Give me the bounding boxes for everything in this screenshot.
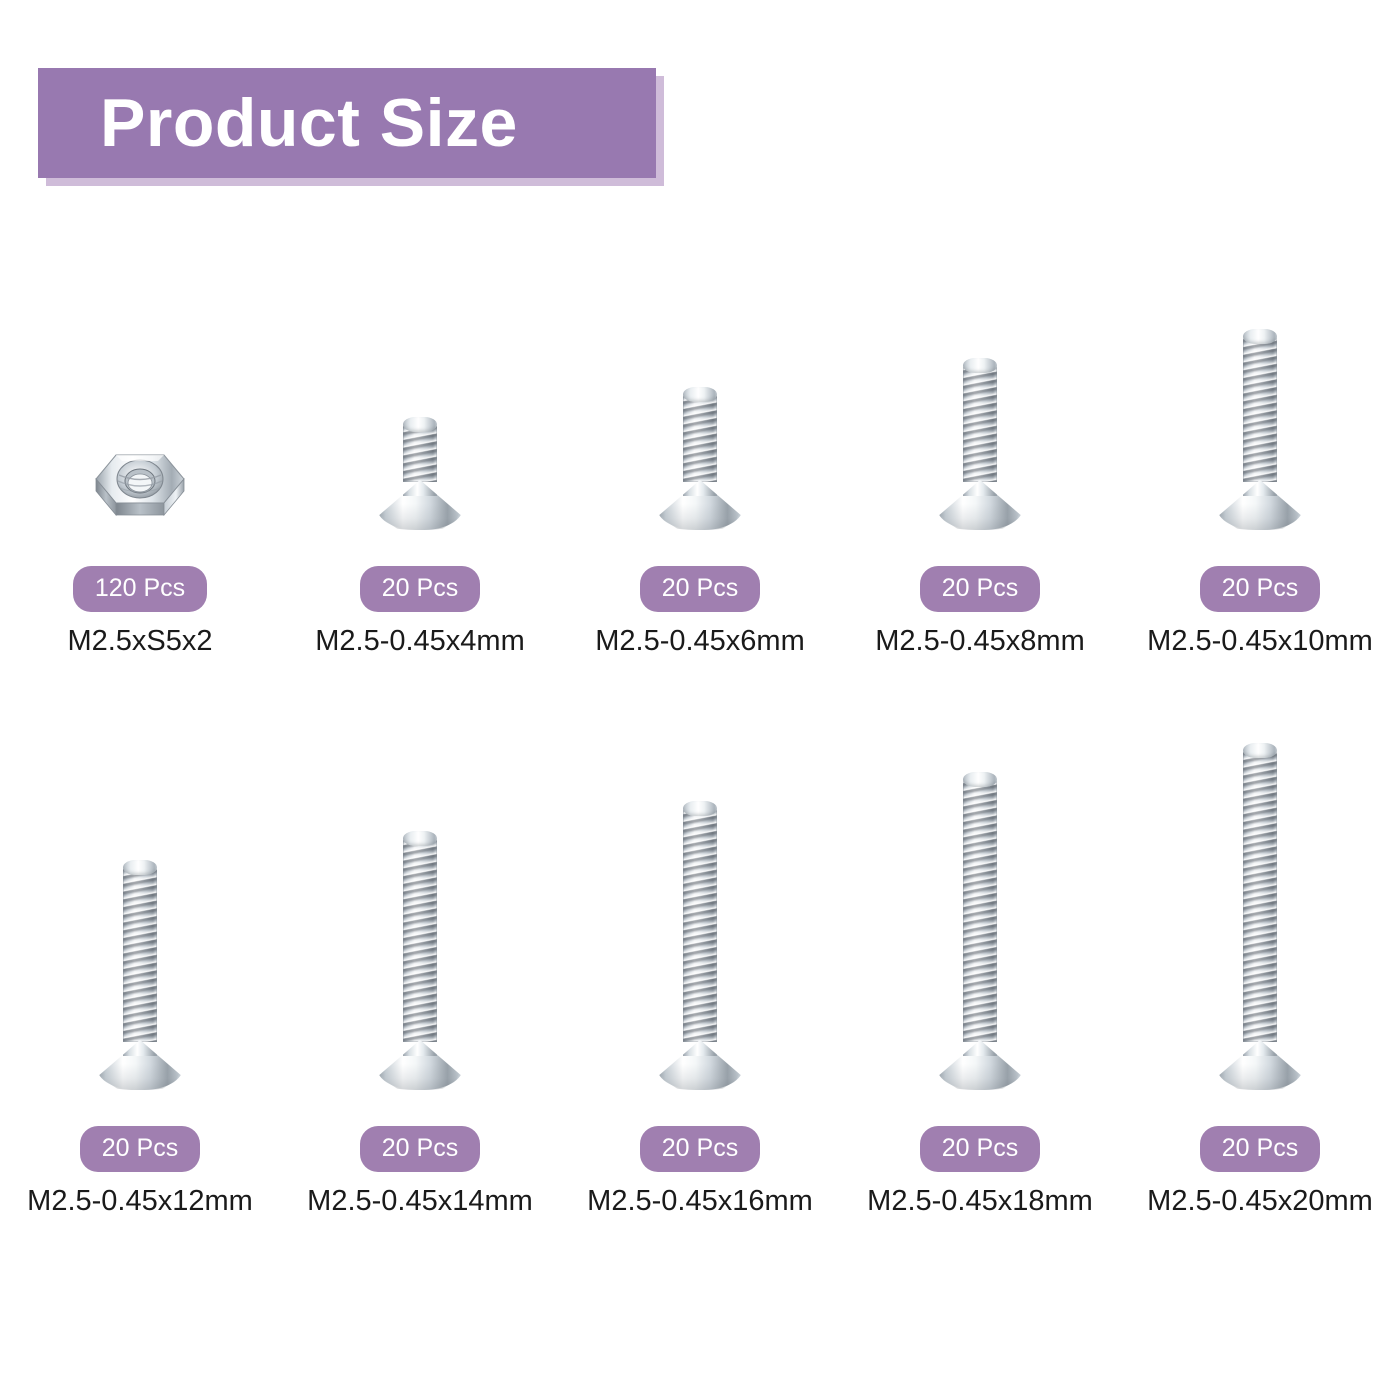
product-spec-label: M2.5xS5x2: [67, 626, 212, 656]
product-item[interactable]: 20 PcsM2.5-0.45x6mm: [560, 300, 840, 656]
screw-tip: [403, 417, 437, 432]
screw-tip: [963, 772, 997, 787]
quantity-badge: 20 Pcs: [1200, 566, 1320, 612]
screw-tip: [683, 801, 717, 816]
screw-threaded-shaft: [963, 779, 997, 1042]
screw-countersunk-head: [937, 480, 1023, 530]
product-item[interactable]: 20 PcsM2.5-0.45x12mm: [0, 700, 280, 1216]
screw-tip: [403, 831, 437, 846]
product-spec-label: M2.5-0.45x12mm: [27, 1186, 253, 1216]
screw-threaded-shaft: [963, 365, 997, 482]
quantity-badge: 120 Pcs: [73, 566, 207, 612]
product-item[interactable]: 20 PcsM2.5-0.45x20mm: [1120, 700, 1400, 1216]
product-image: [280, 700, 560, 1090]
product-spec-label: M2.5-0.45x20mm: [1147, 1186, 1373, 1216]
screw-threaded-shaft: [683, 394, 717, 482]
quantity-badge: 20 Pcs: [1200, 1126, 1320, 1172]
product-spec-label: M2.5-0.45x10mm: [1147, 626, 1373, 656]
flat-head-screw-icon: [97, 867, 183, 1090]
product-image: [280, 300, 560, 530]
flat-head-screw-icon: [1217, 750, 1303, 1090]
screw-tip: [1243, 329, 1277, 344]
product-item[interactable]: 20 PcsM2.5-0.45x8mm: [840, 300, 1120, 656]
product-image: [1120, 300, 1400, 530]
product-image: [560, 700, 840, 1090]
flat-head-screw-icon: [657, 808, 743, 1090]
screw-threaded-shaft: [123, 867, 157, 1042]
product-image: [0, 700, 280, 1090]
product-row-1: 120 PcsM2.5xS5x220 PcsM2.5-0.45x4mm20 Pc…: [0, 300, 1400, 656]
product-image: [840, 300, 1120, 530]
product-item[interactable]: 20 PcsM2.5-0.45x4mm: [280, 300, 560, 656]
quantity-badge: 20 Pcs: [640, 566, 760, 612]
screw-countersunk-head: [1217, 480, 1303, 530]
screw-threaded-shaft: [1243, 336, 1277, 482]
quantity-badge: 20 Pcs: [360, 566, 480, 612]
flat-head-screw-icon: [377, 838, 463, 1090]
product-item[interactable]: 20 PcsM2.5-0.45x18mm: [840, 700, 1120, 1216]
product-image: [1120, 700, 1400, 1090]
screw-countersunk-head: [97, 1040, 183, 1090]
screw-threaded-shaft: [403, 424, 437, 482]
screw-countersunk-head: [1217, 1040, 1303, 1090]
screw-tip: [683, 387, 717, 402]
screw-threaded-shaft: [683, 808, 717, 1042]
screw-tip: [963, 358, 997, 373]
quantity-badge: 20 Pcs: [920, 566, 1040, 612]
flat-head-screw-icon: [937, 365, 1023, 530]
product-image: [560, 300, 840, 530]
product-spec-label: M2.5-0.45x8mm: [875, 626, 1085, 656]
screw-countersunk-head: [657, 1040, 743, 1090]
product-spec-label: M2.5-0.45x4mm: [315, 626, 525, 656]
quantity-badge: 20 Pcs: [920, 1126, 1040, 1172]
product-spec-label: M2.5-0.45x6mm: [595, 626, 805, 656]
product-row-2: 20 PcsM2.5-0.45x12mm20 PcsM2.5-0.45x14mm…: [0, 700, 1400, 1216]
flat-head-screw-icon: [377, 424, 463, 530]
screw-threaded-shaft: [1243, 750, 1277, 1042]
screw-countersunk-head: [377, 480, 463, 530]
screw-countersunk-head: [937, 1040, 1023, 1090]
product-item[interactable]: 20 PcsM2.5-0.45x10mm: [1120, 300, 1400, 656]
hex-nut-icon: [92, 445, 188, 530]
screw-tip: [1243, 743, 1277, 758]
product-image: [0, 300, 280, 530]
product-item[interactable]: 20 PcsM2.5-0.45x14mm: [280, 700, 560, 1216]
screw-countersunk-head: [657, 480, 743, 530]
screw-tip: [123, 860, 157, 875]
quantity-badge: 20 Pcs: [640, 1126, 760, 1172]
quantity-badge: 20 Pcs: [360, 1126, 480, 1172]
product-spec-label: M2.5-0.45x16mm: [587, 1186, 813, 1216]
product-image: [840, 700, 1120, 1090]
quantity-badge: 20 Pcs: [80, 1126, 200, 1172]
flat-head-screw-icon: [937, 779, 1023, 1090]
product-item[interactable]: 120 PcsM2.5xS5x2: [0, 300, 280, 656]
screw-threaded-shaft: [403, 838, 437, 1042]
flat-head-screw-icon: [657, 394, 743, 530]
product-spec-label: M2.5-0.45x14mm: [307, 1186, 533, 1216]
product-spec-label: M2.5-0.45x18mm: [867, 1186, 1093, 1216]
product-item[interactable]: 20 PcsM2.5-0.45x16mm: [560, 700, 840, 1216]
flat-head-screw-icon: [1217, 336, 1303, 530]
screw-countersunk-head: [377, 1040, 463, 1090]
page-title: Product Size: [100, 89, 518, 157]
header-banner: Product Size: [38, 68, 656, 178]
